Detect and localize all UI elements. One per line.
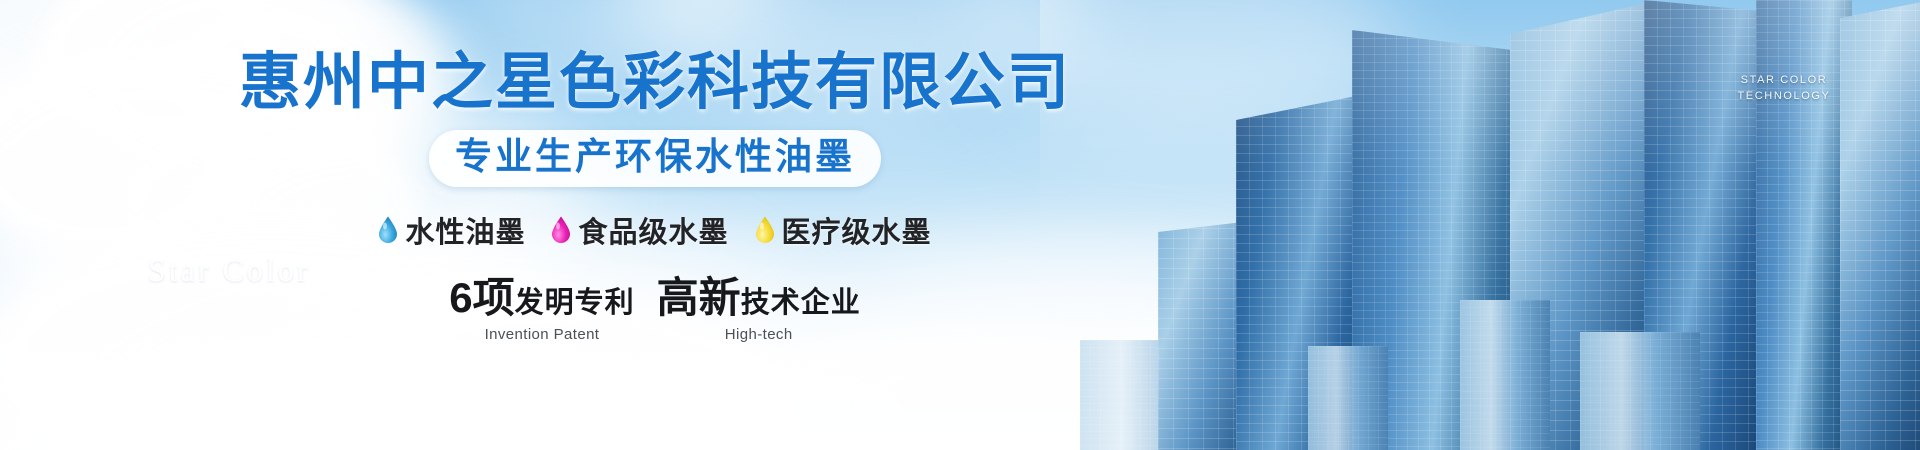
feature-list: 水性油墨 食品级水墨 [378,209,931,251]
company-banner: Star Color STAR COLOR TECHNOLOGY 惠州中之星色彩… [0,0,1920,450]
banner-content: 惠州中之星色彩科技有限公司 专业生产环保水性油墨 水性油墨 [0,0,1310,450]
company-title: 惠州中之星色彩科技有限公司 [239,52,1071,114]
subtitle-pill: 专业生产环保水性油墨 [429,130,881,187]
feature-item: 食品级水墨 [551,209,728,251]
feature-item: 水性油墨 [378,209,525,251]
ink-drop-icon [551,216,571,243]
badge-english-label: Invention Patent [485,326,600,343]
ink-drop-icon [378,216,398,243]
feature-label: 食品级水墨 [578,209,728,251]
building-brand-line1: STAR COLOR [1724,72,1844,88]
subtitle-text: 专业生产环保水性油墨 [455,137,855,178]
badge-headline: 6项 [449,277,514,319]
badge-headline: 高新 [657,277,741,319]
badge-invention-patent: 6项 发明专利 Invention Patent [449,277,634,343]
building-brand-line2: TECHNOLOGY [1724,88,1844,104]
badge-high-tech: 高新 技术企业 High-tech [657,277,861,343]
building-brand-label: STAR COLOR TECHNOLOGY [1724,72,1844,104]
feature-label: 水性油墨 [405,209,525,251]
badge-subhead: 技术企业 [741,289,861,318]
ink-drop-icon [755,216,775,243]
feature-item: 医疗级水墨 [755,209,932,251]
badge-subhead: 发明专利 [515,289,635,318]
feature-label: 医疗级水墨 [782,209,932,251]
badge-english-label: High-tech [725,326,793,343]
credential-badges: 6项 发明专利 Invention Patent 高新 技术企业 High-te… [449,277,860,343]
